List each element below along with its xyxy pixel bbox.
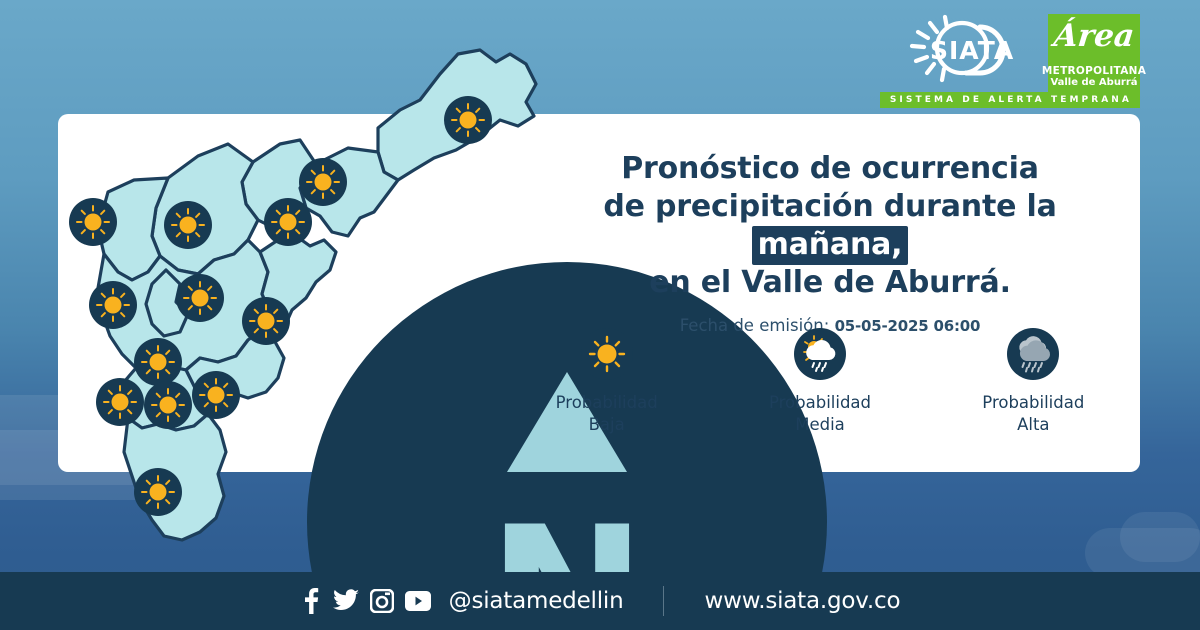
legend-item-alta: Probabilidad Alta xyxy=(943,328,1123,436)
legend-icon-media xyxy=(794,328,846,380)
siata-logo: SIATA xyxy=(906,14,1038,88)
instagram-icon[interactable] xyxy=(370,589,394,613)
cloud-rain-icon xyxy=(1007,328,1059,380)
title-highlight-period: mañana, xyxy=(752,226,909,265)
social-icons xyxy=(300,588,431,614)
footer-content: @siatamedellin www.siata.gov.co xyxy=(300,586,901,616)
title-line-2-text: de precipitación durante la xyxy=(603,189,1056,224)
background-cloud-right-2 xyxy=(1120,512,1200,562)
sun-icon xyxy=(242,297,290,345)
infographic-canvas: SIATA Área METROPOLITANA Valle de Aburrá… xyxy=(0,0,1200,630)
legend-icon-baja xyxy=(581,328,633,380)
legend-item-media: Probabilidad Media xyxy=(730,328,910,436)
area-line1: METROPOLITANA xyxy=(1042,65,1146,77)
map-marker[interactable] xyxy=(89,281,137,329)
title-line-3: en el Valle de Aburrá. xyxy=(520,264,1140,302)
sun-rain-icon xyxy=(794,328,846,380)
title-line-1: Pronóstico de ocurrencia xyxy=(520,150,1140,188)
compass-rose: N xyxy=(307,252,359,304)
youtube-icon[interactable] xyxy=(405,591,431,611)
map-marker[interactable] xyxy=(242,297,290,345)
sun-icon xyxy=(69,198,117,246)
sun-icon xyxy=(134,468,182,516)
legend-label-media-line1: Probabilidad xyxy=(730,392,910,414)
legend-label-baja: Probabilidad Baja xyxy=(517,392,697,436)
facebook-icon[interactable] xyxy=(300,588,322,614)
forecast-text-panel: Pronóstico de ocurrencia de precipitació… xyxy=(520,150,1140,335)
tagline-banner: SISTEMA DE ALERTA TEMPRANA xyxy=(880,92,1140,108)
legend-label-alta-line1: Probabilidad xyxy=(943,392,1123,414)
area-metropolitana-logo: Área METROPOLITANA Valle de Aburrá xyxy=(1048,14,1140,92)
legend-item-baja: Probabilidad Baja xyxy=(517,328,697,436)
siata-wordmark: SIATA xyxy=(930,36,1014,65)
legend-label-baja-line2: Baja xyxy=(517,414,697,436)
logo-group: SIATA Área METROPOLITANA Valle de Aburrá xyxy=(906,14,1140,92)
map-marker[interactable] xyxy=(164,201,212,249)
map-marker[interactable] xyxy=(96,378,144,426)
map-marker[interactable] xyxy=(69,198,117,246)
map-marker[interactable] xyxy=(264,198,312,246)
probability-legend: Probabilidad Baja xyxy=(500,328,1140,436)
legend-label-alta: Probabilidad Alta xyxy=(943,392,1123,436)
legend-icon-alta xyxy=(1007,328,1059,380)
map-marker[interactable] xyxy=(144,381,192,429)
sun-icon xyxy=(264,198,312,246)
legend-label-baja-line1: Probabilidad xyxy=(517,392,697,414)
sun-icon xyxy=(581,328,633,380)
footer-divider xyxy=(663,586,664,616)
map-marker[interactable] xyxy=(192,371,240,419)
website-url[interactable]: www.siata.gov.co xyxy=(704,588,900,614)
valle-de-aburra-map: N xyxy=(48,40,568,580)
page-title: Pronóstico de ocurrencia de precipitació… xyxy=(520,150,1140,302)
area-line2: Valle de Aburrá xyxy=(1050,77,1137,88)
legend-label-media-line2: Media xyxy=(730,414,910,436)
footer-bar: @siatamedellin www.siata.gov.co xyxy=(0,572,1200,630)
social-handle[interactable]: @siatamedellin xyxy=(449,588,624,614)
sun-icon xyxy=(192,371,240,419)
map-marker[interactable] xyxy=(134,468,182,516)
sun-icon xyxy=(89,281,137,329)
sun-icon xyxy=(96,378,144,426)
title-line-2: de precipitación durante la mañana, xyxy=(520,188,1140,264)
sun-icon xyxy=(144,381,192,429)
twitter-icon[interactable] xyxy=(333,589,359,613)
legend-label-media: Probabilidad Media xyxy=(730,392,910,436)
sun-icon xyxy=(176,274,224,322)
area-script-wordmark: Área xyxy=(1046,18,1142,54)
sun-icon xyxy=(164,201,212,249)
map-marker[interactable] xyxy=(444,96,492,144)
map-marker[interactable] xyxy=(176,274,224,322)
legend-label-alta-line2: Alta xyxy=(943,414,1123,436)
sun-icon xyxy=(444,96,492,144)
